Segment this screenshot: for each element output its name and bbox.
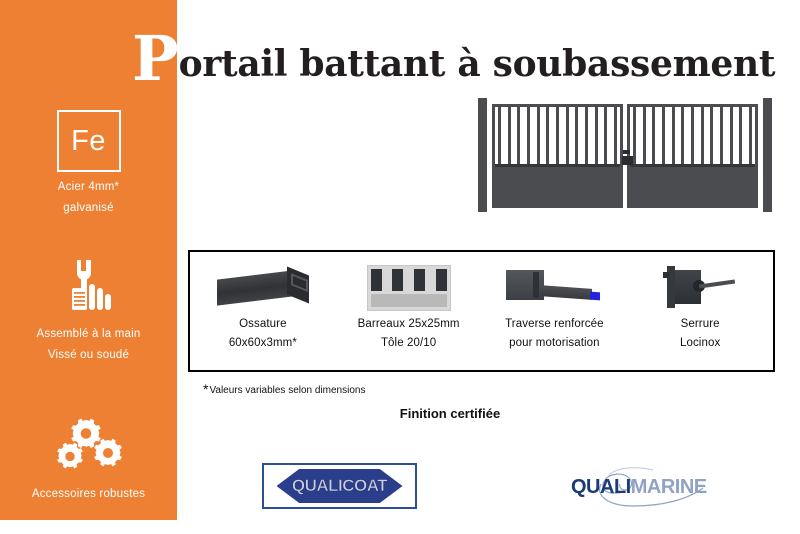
- gate-bars-right: [630, 107, 755, 164]
- spec-barreaux-line-1: Barreaux 25x25mm: [358, 316, 460, 333]
- qualimarine-text-part1: QUALI: [571, 476, 631, 498]
- feature-block-assembly: Assemblé à la main Vissé ou soudé: [0, 258, 177, 361]
- qualimarine-logo-text: QUALIMARINE: [571, 476, 707, 499]
- feature-accessories-line-1: Accessoires robustes: [0, 488, 177, 500]
- gate-lock-handle-icon: [622, 156, 633, 165]
- feature-block-steel: Fe Acier 4mm* galvanisé: [0, 110, 177, 214]
- gate-leaf-left: [492, 104, 623, 208]
- gate-skirt-right: [630, 164, 755, 205]
- traverse-motorisation-icon: [506, 260, 602, 316]
- specifications-box: Ossature 60x60x3mm* Barreaux 25x25mm Tôl…: [188, 250, 775, 372]
- product-sheet-page: Fe Acier 4mm* galvanisé: [0, 0, 800, 534]
- spec-cell-serrure: Serrure Locinox: [627, 252, 773, 370]
- spec-cell-barreaux: Barreaux 25x25mm Tôle 20/10: [336, 252, 482, 370]
- gate-leaf-right: [627, 104, 758, 208]
- gate-bars-left: [495, 107, 620, 164]
- page-title: Portail battant à soubassement: [132, 24, 775, 86]
- spec-ossature-line-2: 60x60x3mm*: [229, 335, 297, 352]
- title-drop-cap: P: [132, 28, 179, 90]
- spec-serrure-line-1: Serrure: [681, 316, 720, 333]
- fe-element-box-icon: Fe: [57, 110, 121, 172]
- spec-cell-ossature: Ossature 60x60x3mm*: [190, 252, 336, 370]
- spec-traverse-line-1: Traverse renforcée: [505, 316, 604, 333]
- ossature-profile-icon: [217, 260, 309, 316]
- footnote: *Valeurs variables selon dimensions: [203, 381, 365, 397]
- spec-serrure-line-2: Locinox: [680, 335, 720, 352]
- spec-cell-traverse: Traverse renforcée pour motorisation: [482, 252, 628, 370]
- gate-post-right: [763, 98, 772, 212]
- feature-assembly-line-2: Vissé ou soudé: [0, 349, 177, 361]
- fe-symbol-label: Fe: [71, 127, 106, 156]
- footnote-asterisk: *: [203, 381, 208, 397]
- barreaux-tole-icon: [367, 260, 451, 316]
- qualicoat-logo-text: QUALICOAT: [292, 476, 387, 496]
- qualicoat-logo: QUALICOAT: [262, 463, 417, 509]
- spec-traverse-line-2: pour motorisation: [509, 335, 600, 352]
- title-rest: ortail battant à soubassement: [179, 46, 776, 82]
- spec-ossature-line-1: Ossature: [239, 316, 286, 333]
- feature-steel-line-1: Acier 4mm*: [0, 181, 177, 193]
- feature-block-accessories: Accessoires robustes: [0, 418, 177, 500]
- gate-post-left: [478, 98, 487, 212]
- feature-assembly-line-1: Assemblé à la main: [0, 328, 177, 340]
- qualimarine-text-part2: MARINE: [631, 476, 707, 498]
- hand-holding-wrench-icon: [0, 258, 177, 319]
- certification-title: Finition certifiée: [0, 406, 800, 421]
- footnote-text: Valeurs variables selon dimensions: [209, 385, 365, 396]
- serrure-locinox-icon: [663, 260, 737, 316]
- gears-icon: [0, 418, 177, 479]
- feature-steel-line-2: galvanisé: [0, 202, 177, 214]
- qualimarine-logo: QUALIMARINE: [565, 462, 725, 510]
- gate-skirt-left: [495, 164, 620, 205]
- spec-barreaux-line-2: Tôle 20/10: [381, 335, 436, 352]
- gate-illustration: [478, 92, 772, 214]
